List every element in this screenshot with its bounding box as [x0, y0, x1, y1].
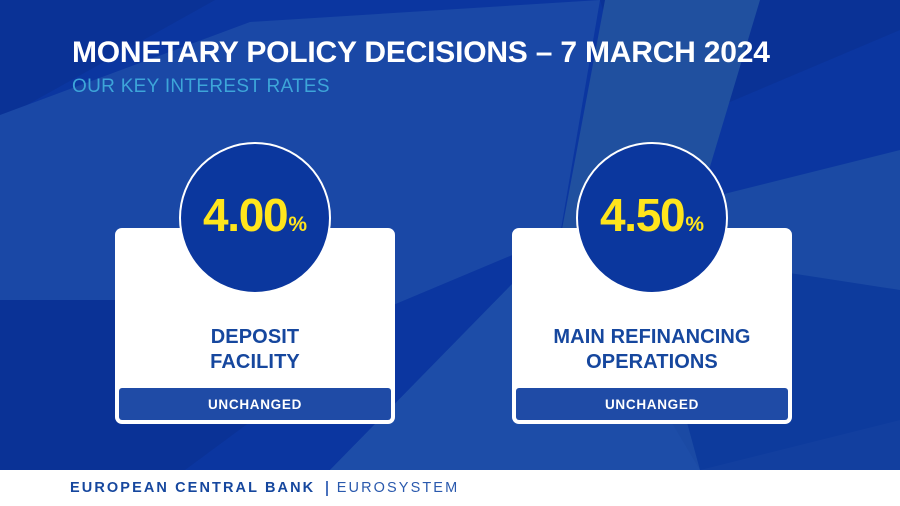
ecb-logo: EUROPEAN CENTRAL BANK EUROSYSTEM [70, 480, 459, 496]
rate-unit: % [685, 214, 704, 235]
page-subtitle: OUR KEY INTEREST RATES [72, 77, 770, 98]
status-badge: UNCHANGED [119, 388, 391, 420]
infographic-canvas: MONETARY POLICY DECISIONS – 7 MARCH 2024… [0, 0, 900, 506]
rate-value: 4.00 [203, 192, 287, 238]
rate-row: 4.50 % [600, 192, 704, 238]
logo-primary-text: EUROPEAN CENTRAL BANK [70, 480, 315, 496]
rate-bubble: 4.00 % [179, 142, 331, 294]
rate-unit: % [288, 214, 307, 235]
footer: EUROPEAN CENTRAL BANK EUROSYSTEM [0, 470, 900, 506]
status-badge: UNCHANGED [516, 388, 788, 420]
status-badge-text: UNCHANGED [208, 397, 302, 412]
logo-divider [326, 481, 328, 496]
status-badge-text: UNCHANGED [605, 397, 699, 412]
rate-card-label: DEPOSIT FACILITY [204, 325, 306, 374]
page-title: MONETARY POLICY DECISIONS – 7 MARCH 2024 [72, 36, 770, 70]
rate-bubble: 4.50 % [576, 142, 728, 294]
rate-row: 4.00 % [203, 192, 307, 238]
rate-card-label: MAIN REFINANCING OPERATIONS [547, 325, 756, 374]
header: MONETARY POLICY DECISIONS – 7 MARCH 2024… [72, 36, 770, 97]
rate-value: 4.50 [600, 192, 684, 238]
logo-secondary-text: EUROSYSTEM [337, 480, 460, 496]
